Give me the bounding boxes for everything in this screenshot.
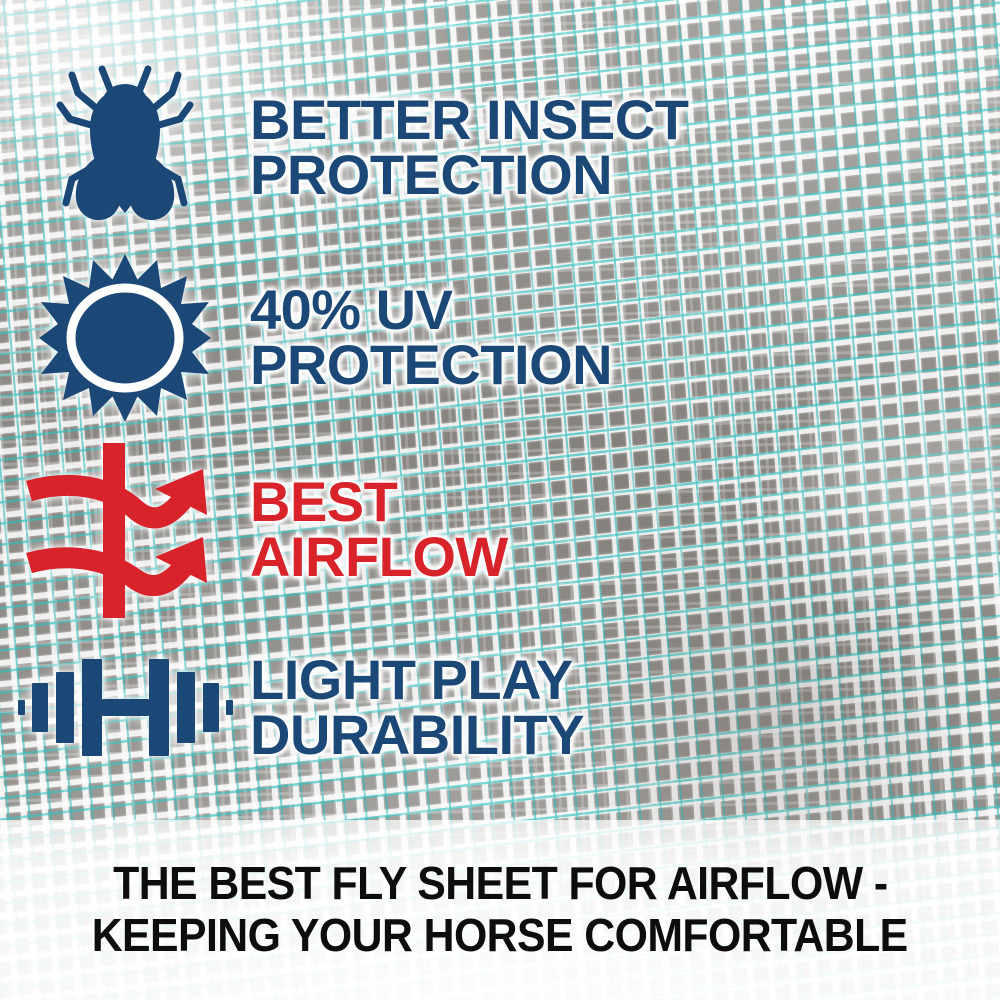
sun-icon-cell <box>0 252 250 424</box>
airflow-icon-cell <box>0 443 250 618</box>
airflow-icon <box>25 443 225 618</box>
fly-icon <box>50 61 200 236</box>
feature-label-insect-protection: BETTER INSECT PROTECTION <box>250 93 688 203</box>
feature-row-durability: LIGHT PLAY DURABILITY <box>0 630 1000 785</box>
feature-label-durability: LIGHT PLAY DURABILITY <box>250 653 584 763</box>
dumbbell-icon-cell <box>0 655 250 760</box>
sun-icon <box>39 252 211 424</box>
feature-label-airflow: BEST AIRFLOW <box>250 475 508 585</box>
caption-line-2: KEEPING YOUR HORSE COMFORTABLE <box>92 910 908 962</box>
caption-line-1: THE BEST FLY SHEET FOR AIRFLOW - <box>113 858 887 910</box>
fly-icon-cell <box>0 61 250 236</box>
bottom-caption-band: THE BEST FLY SHEET FOR AIRFLOW - KEEPING… <box>0 820 1000 1000</box>
feature-row-uv-protection: 40% UV PROTECTION <box>0 248 1000 428</box>
feature-row-airflow: BEST AIRFLOW <box>0 440 1000 620</box>
feature-label-uv-protection: 40% UV PROTECTION <box>250 283 612 393</box>
feature-row-insect-protection: BETTER INSECT PROTECTION <box>0 58 1000 238</box>
dumbbell-icon <box>18 655 233 760</box>
